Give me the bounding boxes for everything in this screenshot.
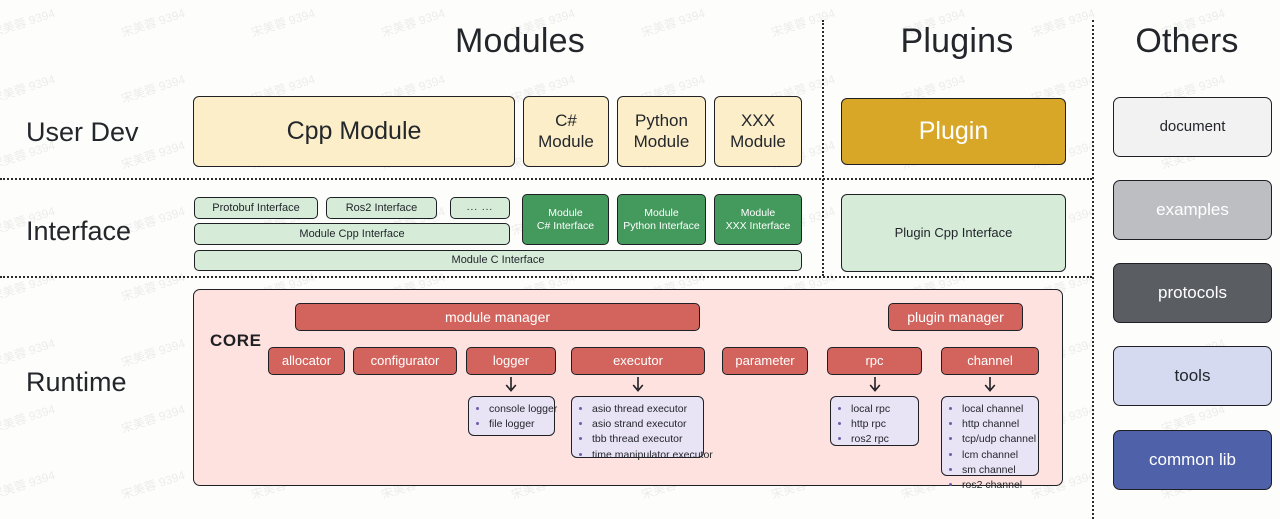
watermark-text: 宋美蓉 9394 <box>769 4 837 41</box>
others-item-tools[interactable]: tools <box>1113 346 1272 406</box>
core-component-configurator[interactable]: configurator <box>353 347 457 375</box>
watermark-text: 宋美蓉 9394 <box>119 400 187 437</box>
interface-box-ellipsis[interactable]: ... ... <box>450 197 510 219</box>
watermark-text: 宋美蓉 9394 <box>119 4 187 41</box>
interface-box-module-csharp[interactable]: Module C# Interface <box>522 194 609 245</box>
divider-modules-plugins <box>822 20 824 276</box>
column-title-others: Others <box>1102 22 1272 61</box>
core-detail-logger-list: console loggerfile logger <box>477 402 548 432</box>
others-item-common-lib[interactable]: common lib <box>1113 430 1272 490</box>
watermark-text: 宋美蓉 9394 <box>0 400 57 437</box>
module-box-csharp[interactable]: C# Module <box>523 96 609 167</box>
core-detail-rpc-list: local rpchttp rpcros2 rpc <box>839 402 912 448</box>
arrow-down-icon-logger <box>504 377 518 394</box>
core-module-manager[interactable]: module manager <box>295 303 700 331</box>
watermark-text: 宋美蓉 9394 <box>0 70 57 107</box>
list-item: console logger <box>489 402 548 417</box>
list-item: ros2 rpc <box>851 432 912 447</box>
arrow-down-icon-channel <box>983 377 997 394</box>
row-label-interface: Interface <box>26 216 131 247</box>
diagram-canvas: 宋美蓉 9394宋美蓉 9394宋美蓉 9394宋美蓉 9394宋美蓉 9394… <box>0 0 1280 519</box>
watermark-text: 宋美蓉 9394 <box>119 70 187 107</box>
list-item: file logger <box>489 417 548 432</box>
divider-plugins-others <box>1092 20 1094 519</box>
others-item-document[interactable]: document <box>1113 97 1272 157</box>
interface-bar-module-cpp[interactable]: Module Cpp Interface <box>194 223 510 245</box>
row-label-runtime: Runtime <box>26 367 127 398</box>
interface-box-module-xxx[interactable]: Module XXX Interface <box>714 194 802 245</box>
others-item-examples[interactable]: examples <box>1113 180 1272 240</box>
list-item: asio strand executor <box>592 417 697 432</box>
list-item: sm channel <box>962 463 1032 478</box>
list-item: lcm channel <box>962 448 1032 463</box>
plugin-box[interactable]: Plugin <box>841 98 1066 165</box>
list-item: http rpc <box>851 417 912 432</box>
core-component-allocator[interactable]: allocator <box>268 347 345 375</box>
core-component-parameter[interactable]: parameter <box>722 347 808 375</box>
interface-box-ros2[interactable]: Ros2 Interface <box>326 197 437 219</box>
watermark-text: 宋美蓉 9394 <box>0 4 57 41</box>
core-detail-channel[interactable]: local channelhttp channeltcp/udp channel… <box>941 396 1039 476</box>
core-detail-executor-list: asio thread executorasio strand executor… <box>580 402 697 463</box>
watermark-text: 宋美蓉 9394 <box>0 466 57 503</box>
divider-userdev-interface <box>0 178 1092 180</box>
core-detail-rpc[interactable]: local rpchttp rpcros2 rpc <box>830 396 919 446</box>
watermark-text: 宋美蓉 9394 <box>0 268 57 305</box>
core-label: CORE <box>210 331 262 351</box>
watermark-text: 宋美蓉 9394 <box>0 334 57 371</box>
core-component-logger[interactable]: logger <box>466 347 556 375</box>
module-box-xxx[interactable]: XXX Module <box>714 96 802 167</box>
divider-interface-runtime <box>0 276 1092 278</box>
interface-box-protobuf[interactable]: Protobuf Interface <box>194 197 318 219</box>
core-detail-logger[interactable]: console loggerfile logger <box>468 396 555 436</box>
watermark-text: 宋美蓉 9394 <box>119 466 187 503</box>
list-item: ros2 channel <box>962 478 1032 493</box>
core-component-executor[interactable]: executor <box>571 347 705 375</box>
watermark-text: 宋美蓉 9394 <box>249 4 317 41</box>
column-title-plugins: Plugins <box>832 22 1082 61</box>
list-item: local rpc <box>851 402 912 417</box>
core-detail-channel-list: local channelhttp channeltcp/udp channel… <box>950 402 1032 493</box>
module-box-python[interactable]: Python Module <box>617 96 706 167</box>
core-plugin-manager[interactable]: plugin manager <box>888 303 1023 331</box>
others-item-protocols[interactable]: protocols <box>1113 263 1272 323</box>
module-box-cpp[interactable]: Cpp Module <box>193 96 515 167</box>
list-item: local channel <box>962 402 1032 417</box>
interface-box-module-python[interactable]: Module Python Interface <box>617 194 706 245</box>
core-detail-executor[interactable]: asio thread executorasio strand executor… <box>571 396 704 458</box>
row-label-user-dev: User Dev <box>26 117 139 148</box>
column-title-modules: Modules <box>330 22 710 61</box>
watermark-text: 宋美蓉 9394 <box>119 268 187 305</box>
arrow-down-icon-rpc <box>868 377 882 394</box>
interface-bar-module-c[interactable]: Module C Interface <box>194 250 802 271</box>
list-item: time manipulator executor <box>592 448 697 463</box>
list-item: tbb thread executor <box>592 432 697 447</box>
list-item: asio thread executor <box>592 402 697 417</box>
list-item: tcp/udp channel <box>962 432 1032 447</box>
interface-box-plugin-cpp[interactable]: Plugin Cpp Interface <box>841 194 1066 272</box>
core-component-rpc[interactable]: rpc <box>827 347 922 375</box>
watermark-text: 宋美蓉 9394 <box>119 334 187 371</box>
list-item: http channel <box>962 417 1032 432</box>
arrow-down-icon-executor <box>631 377 645 394</box>
core-component-channel[interactable]: channel <box>941 347 1039 375</box>
